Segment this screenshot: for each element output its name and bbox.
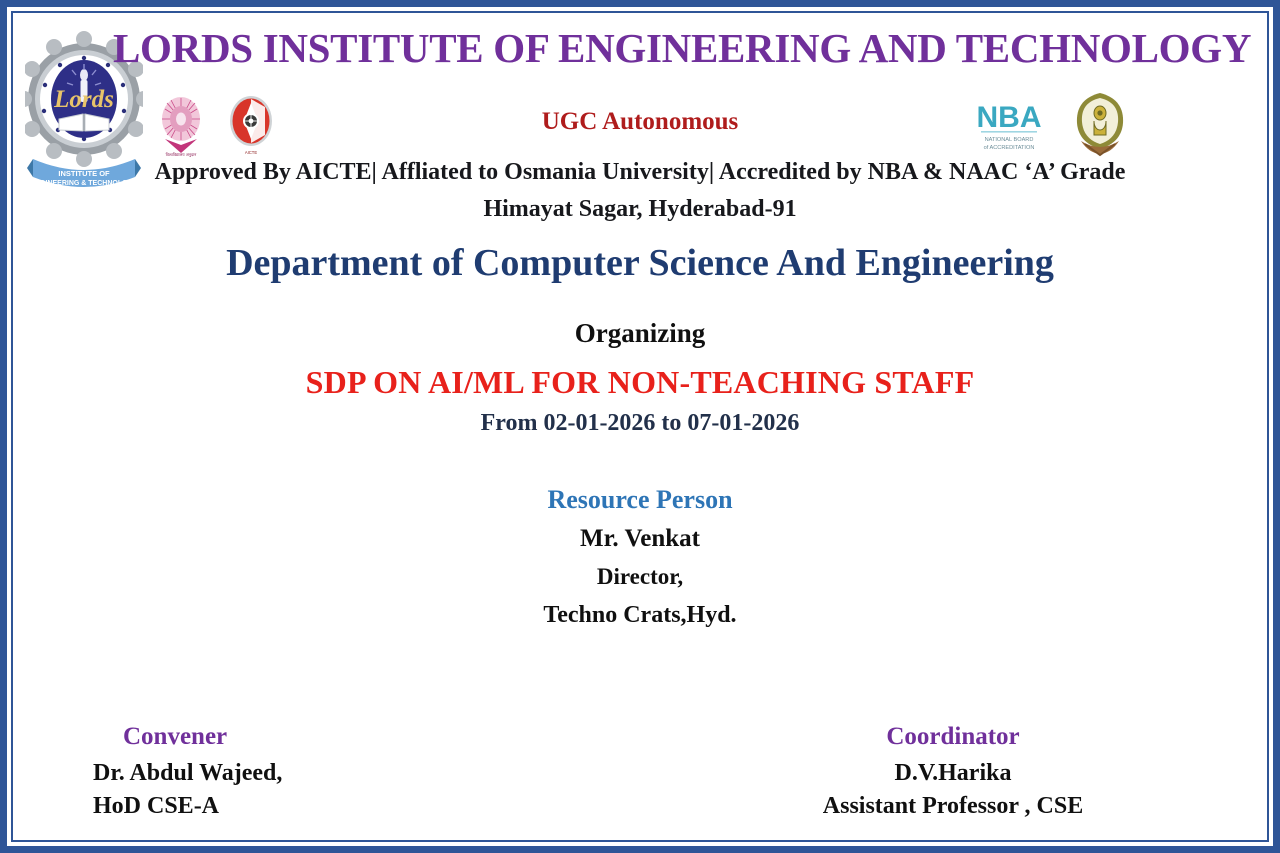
svg-text:NATIONAL BOARD: NATIONAL BOARD [985, 137, 1034, 143]
svg-text:विश्वविद्यालय अनुदान: विश्वविद्यालय अनुदान [166, 152, 198, 157]
poster-inner-border: Lords INSTITUTE OF ENGINEERING & TECHNOL… [11, 11, 1269, 842]
autonomous-status: UGC Autonomous [13, 108, 1267, 136]
event-title: SDP ON AI/ML FOR NON-TEACHING STAFF [13, 364, 1267, 401]
resource-person-role: Director, [13, 564, 1267, 590]
coordinator-block: Coordinator D.V.Harika Assistant Profess… [793, 723, 1113, 820]
coordinator-name: D.V.Harika [793, 760, 1113, 787]
institute-name: LORDS INSTITUTE OF ENGINEERING AND TECHN… [113, 28, 1173, 69]
convener-designation: HoD CSE-A [93, 793, 282, 820]
svg-text:AICTE: AICTE [245, 150, 258, 155]
svg-text:of ACCREDITATION: of ACCREDITATION [984, 145, 1035, 151]
coordinator-role-label: Coordinator [793, 723, 1113, 751]
resource-person-organization: Techno Crats,Hyd. [13, 602, 1267, 629]
poster-header: Lords INSTITUTE OF ENGINEERING & TECHNOL… [13, 13, 1267, 228]
resource-person-label: Resource Person [13, 485, 1267, 515]
organizing-label: Organizing [13, 318, 1267, 349]
approvals-line: Approved By AICTE| Affliated to Osmania … [13, 159, 1267, 186]
resource-person-name: Mr. Venkat [13, 525, 1267, 553]
location-line: Himayat Sagar, Hyderabad-91 [13, 196, 1267, 223]
convener-name: Dr. Abdul Wajeed, [93, 760, 282, 787]
convener-role-label: Convener [93, 723, 282, 751]
event-dates: From 02-01-2026 to 07-01-2026 [13, 410, 1267, 437]
department-title: Department of Computer Science And Engin… [13, 241, 1267, 285]
convener-block: Convener Dr. Abdul Wajeed, HoD CSE-A [93, 723, 282, 820]
poster-content: Lords INSTITUTE OF ENGINEERING & TECHNOL… [13, 13, 1267, 840]
poster-frame: Lords INSTITUTE OF ENGINEERING & TECHNOL… [0, 0, 1280, 853]
coordinator-designation: Assistant Professor , CSE [793, 793, 1113, 820]
